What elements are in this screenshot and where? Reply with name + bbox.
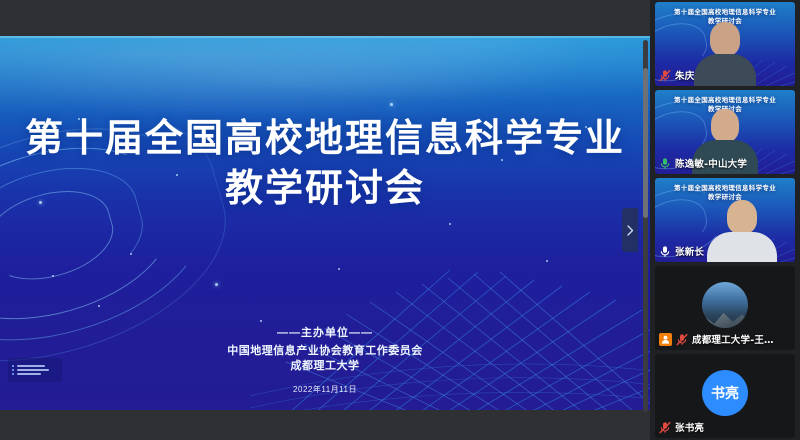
outline-item bbox=[12, 369, 58, 371]
outline-bar bbox=[17, 373, 41, 375]
slide-outline-widget[interactable] bbox=[8, 358, 62, 382]
bullet-icon bbox=[12, 373, 14, 375]
organizer-heading: ——主办单位—— bbox=[0, 324, 650, 340]
microphone-muted-icon bbox=[659, 421, 671, 434]
participant-label: 陈逸敏-中山大学 bbox=[659, 156, 747, 170]
microphone-active-icon bbox=[659, 157, 671, 170]
participant-label: 朱庆 bbox=[659, 68, 694, 82]
outline-bar bbox=[17, 369, 49, 371]
participant-tile[interactable]: 第十届全国高校地理信息科学专业教学研讨会 张新长 bbox=[655, 178, 795, 262]
microphone-muted-icon bbox=[676, 333, 688, 346]
participant-tile[interactable]: 第十届全国高校地理信息科学专业教学研讨会 朱庆 bbox=[655, 2, 795, 86]
host-person-icon bbox=[659, 333, 672, 346]
avatar-photo-content bbox=[702, 306, 748, 328]
chevron-right-icon bbox=[627, 225, 634, 236]
slide-title-line-2: 教学研讨会 bbox=[0, 162, 650, 214]
shared-screen-stage[interactable]: 第十届全国高校地理信息科学专业 教学研讨会 ——主办单位—— 中国地理信息产业协… bbox=[0, 0, 650, 440]
microphone-muted-icon bbox=[659, 69, 671, 82]
participant-tile[interactable]: 第十届全国高校地理信息科学专业教学研讨会 陈逸敏-中山大学 bbox=[655, 90, 795, 174]
microphone-icon bbox=[659, 245, 671, 258]
collapse-panel-button[interactable] bbox=[622, 208, 638, 252]
scrollbar-thumb[interactable] bbox=[643, 68, 648, 218]
slide-organizer-block: ——主办单位—— 中国地理信息产业协会教育工作委员会 成都理工大学 2022年1… bbox=[0, 324, 650, 395]
stage-vertical-scrollbar[interactable] bbox=[643, 40, 648, 412]
outline-bar bbox=[17, 365, 45, 367]
participant-name: 张书亮 bbox=[675, 420, 704, 434]
slide-title-line-1: 第十届全国高校地理信息科学专业 bbox=[0, 114, 650, 162]
participant-tile[interactable]: 书亮 张书亮 bbox=[655, 354, 795, 438]
slide-date: 2022年11月11日 bbox=[0, 384, 650, 395]
slide-title-block: 第十届全国高校地理信息科学专业 教学研讨会 bbox=[0, 114, 650, 214]
participant-tile[interactable]: 成都理工大学-王… bbox=[655, 266, 795, 350]
organizer-line-1: 中国地理信息产业协会教育工作委员会 bbox=[0, 344, 650, 359]
participant-name: 陈逸敏-中山大学 bbox=[675, 156, 747, 170]
avatar: 书亮 bbox=[702, 370, 748, 416]
meeting-window: 第十届全国高校地理信息科学专业 教学研讨会 ——主办单位—— 中国地理信息产业协… bbox=[0, 0, 800, 440]
participant-name: 张新长 bbox=[675, 244, 704, 258]
participant-name: 朱庆 bbox=[675, 68, 694, 82]
organizer-line-2: 成都理工大学 bbox=[0, 359, 650, 374]
participant-label: 张书亮 bbox=[659, 420, 704, 434]
bullet-icon bbox=[12, 369, 14, 371]
presentation-slide[interactable]: 第十届全国高校地理信息科学专业 教学研讨会 ——主办单位—— 中国地理信息产业协… bbox=[0, 36, 650, 410]
outline-item bbox=[12, 365, 58, 367]
participant-filmstrip[interactable]: 第十届全国高校地理信息科学专业教学研讨会 朱庆 bbox=[650, 0, 800, 440]
outline-item bbox=[12, 373, 58, 375]
bullet-icon bbox=[12, 365, 14, 367]
avatar bbox=[702, 282, 748, 328]
participant-label: 张新长 bbox=[659, 244, 704, 258]
participant-name: 成都理工大学-王… bbox=[692, 332, 774, 346]
video-slide-title: 第十届全国高校地理信息科学专业教学研讨会 bbox=[655, 184, 795, 202]
participant-label: 成都理工大学-王… bbox=[659, 332, 774, 346]
